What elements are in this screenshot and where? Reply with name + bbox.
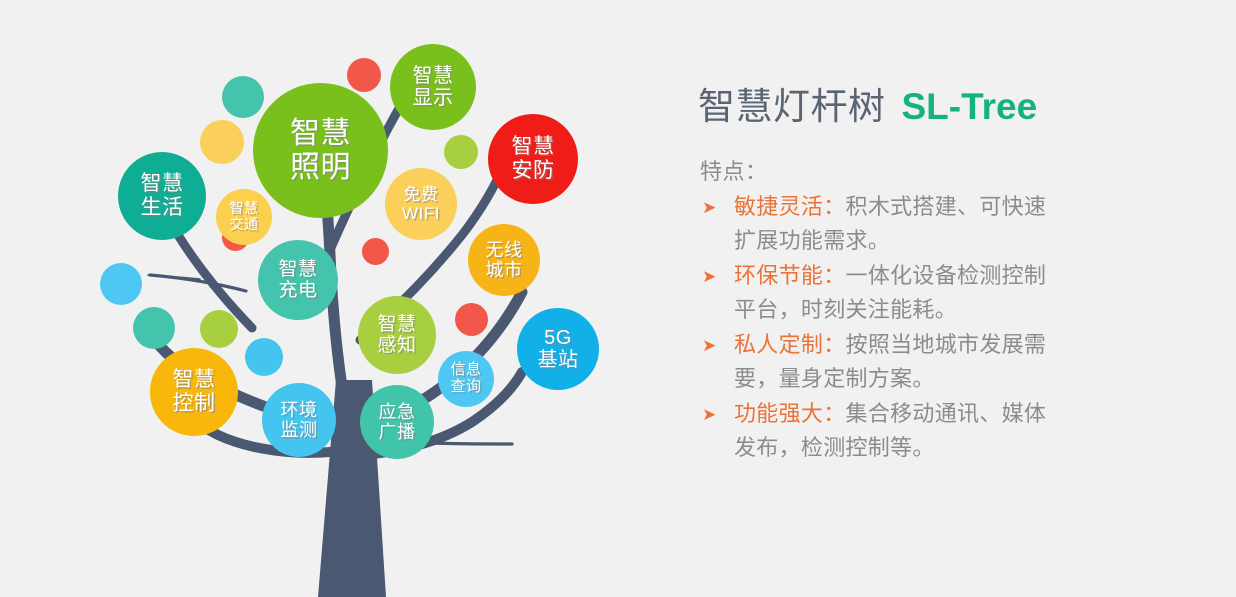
arrow-right-icon: ➤ [702, 337, 720, 355]
feature-head: 敏捷灵活 [734, 194, 823, 219]
bubble-label-line1: 5G [544, 327, 572, 349]
bubble-label-line2: 城市 [486, 260, 523, 280]
dot-red-mid [362, 238, 389, 265]
bubble-smart-charging[interactable]: 智慧 充电 [258, 240, 338, 320]
bubble-label-line1: 免费 [404, 185, 439, 204]
bubble-smart-lighting[interactable]: 智慧 照明 [253, 83, 388, 218]
bubble-smart-control[interactable]: 智慧 控制 [150, 348, 238, 436]
page-title-en: SL-Tree [902, 86, 1038, 127]
dot-teal-left [133, 307, 175, 349]
bubble-smart-traffic[interactable]: 智慧 交通 [216, 189, 272, 245]
bubble-smart-sensing[interactable]: 智慧 感知 [358, 296, 436, 374]
feature-head: 私人定制 [734, 332, 823, 357]
dot-yellow-top [200, 120, 244, 164]
infographic-page: 智慧 照明 智慧 生活 智慧 显示 智慧 安防 免费 WIFI 智慧 交通 智慧… [0, 0, 1236, 597]
bubble-label-line1: 智慧 [377, 314, 416, 335]
dot-teal-top [222, 76, 264, 118]
arrow-right-icon: ➤ [702, 199, 720, 217]
bubble-label-line2: 感知 [377, 335, 416, 356]
bubble-label-line2: 生活 [141, 196, 184, 220]
bubble-wireless-city[interactable]: 无线 城市 [468, 224, 540, 296]
feature-separator: ： [823, 332, 845, 357]
arrow-right-icon: ➤ [702, 406, 720, 424]
bubble-emergency-broadcast[interactable]: 应急 广播 [360, 385, 434, 459]
tree-diagram: 智慧 照明 智慧 生活 智慧 显示 智慧 安防 免费 WIFI 智慧 交通 智慧… [0, 0, 660, 597]
bubble-label-line2: 基站 [538, 349, 579, 371]
bubble-label-line1: 环境 [281, 400, 318, 420]
bubble-label-line1: 智慧 [173, 368, 216, 392]
bubble-info-query[interactable]: 信息 查询 [438, 351, 494, 407]
bubble-label-line2: 显示 [413, 87, 454, 109]
feature-separator: ： [823, 194, 845, 219]
bubble-smart-life[interactable]: 智慧 生活 [118, 152, 206, 240]
dot-green-mid [444, 135, 478, 169]
feature-separator: ： [823, 401, 845, 426]
feature-separator: ： [823, 263, 845, 288]
arrow-right-icon: ➤ [702, 268, 720, 286]
bubble-label-line2: 广播 [379, 422, 416, 442]
features-section: 特点： ➤ 敏捷灵活：积木式搭建、可快速扩展功能需求。 ➤ 环保节能：一体化设备… [700, 156, 1060, 466]
bubble-label-line1: 智慧 [413, 65, 454, 87]
bubble-label-line1: 无线 [486, 240, 523, 260]
bubble-label-line1: 智慧 [290, 117, 351, 151]
bubble-label-line2: 查询 [450, 379, 481, 396]
feature-head: 环保节能 [734, 263, 823, 288]
bubble-label-line1: 应急 [379, 402, 416, 422]
dot-red-top [347, 58, 381, 92]
text-panel: 智慧灯杆树SL-Tree 特点： ➤ 敏捷灵活：积木式搭建、可快速扩展功能需求。… [694, 0, 1236, 597]
bubble-label-line1: 智慧 [141, 172, 184, 196]
dot-red-right [455, 303, 488, 336]
bubble-5g-base-station[interactable]: 5G 基站 [517, 308, 599, 390]
bubble-label-line1: 智慧 [230, 201, 259, 217]
feature-head: 功能强大 [734, 401, 823, 426]
page-title-cn: 智慧灯杆树 [698, 86, 886, 127]
feature-item: ➤ 敏捷灵活：积木式搭建、可快速扩展功能需求。 [700, 190, 1060, 258]
dot-blue-small [245, 338, 283, 376]
bubble-free-wifi[interactable]: 免费 WIFI [385, 168, 457, 240]
feature-item: ➤ 环保节能：一体化设备检测控制平台，时刻关注能耗。 [700, 259, 1060, 327]
twig-left [150, 275, 246, 291]
bubble-smart-display[interactable]: 智慧 显示 [390, 44, 476, 130]
feature-item: ➤ 功能强大：集合移动通讯、媒体发布，检测控制等。 [700, 397, 1060, 465]
bubble-label-line2: 安防 [512, 159, 555, 183]
bubble-label-line2: 控制 [173, 392, 216, 416]
bubble-smart-security[interactable]: 智慧 安防 [488, 114, 578, 204]
bubble-label-line1: 智慧 [278, 259, 317, 280]
bubble-environment-monitor[interactable]: 环境 监测 [262, 383, 336, 457]
bubble-label-line1: 信息 [450, 362, 481, 379]
features-label: 特点： [700, 156, 1060, 188]
bubble-label-line2: 充电 [278, 280, 317, 301]
feature-item: ➤ 私人定制：按照当地城市发展需要，量身定制方案。 [700, 328, 1060, 396]
page-title: 智慧灯杆树SL-Tree [698, 76, 1037, 130]
bubble-label-line2: 交通 [230, 217, 259, 233]
dot-green-left [200, 310, 238, 348]
bubble-label-line1: 智慧 [512, 135, 555, 159]
bubble-label-line2: WIFI [402, 204, 440, 223]
bubble-label-line2: 监测 [281, 420, 318, 440]
bubble-label-line2: 照明 [290, 151, 351, 185]
dot-blue-left [100, 263, 142, 305]
